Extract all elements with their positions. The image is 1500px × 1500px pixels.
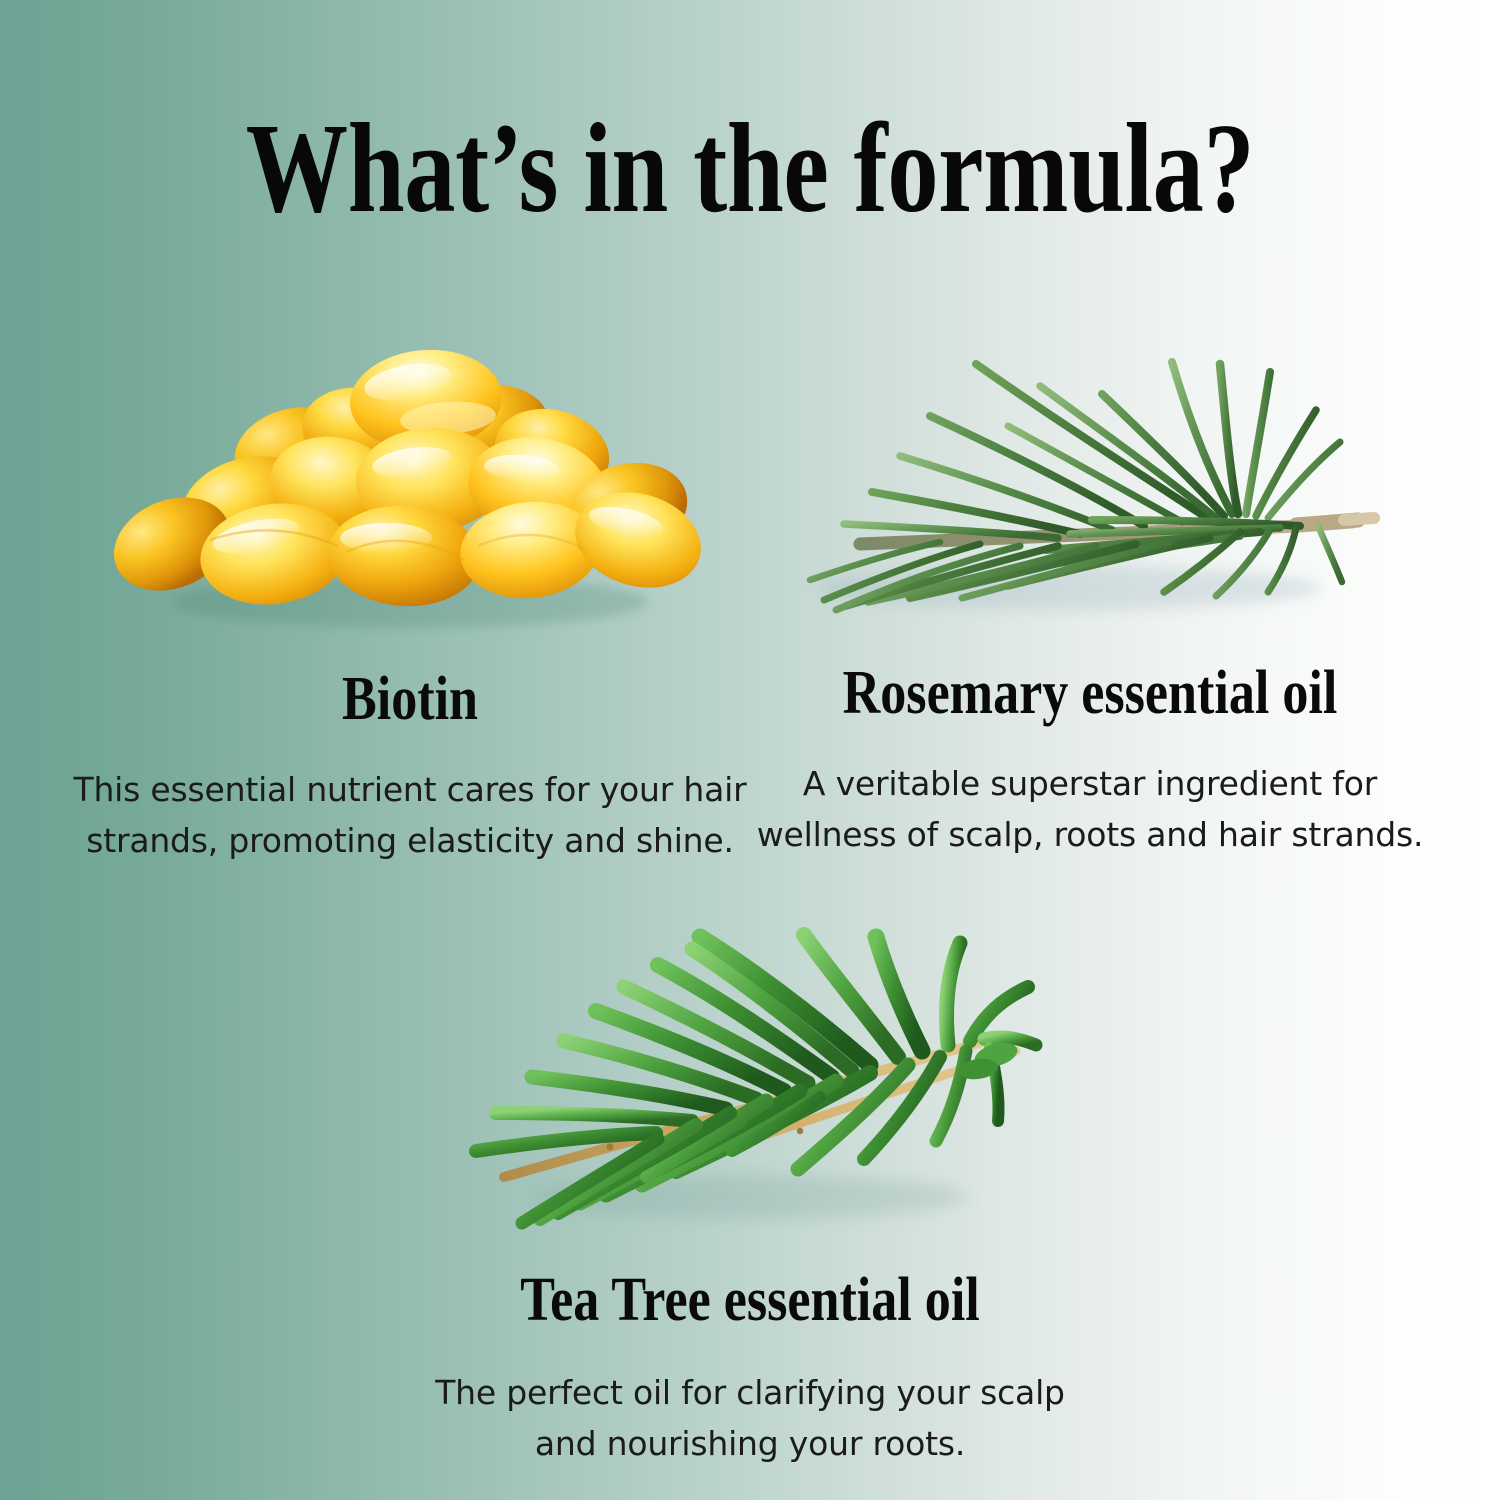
rosemary-image <box>740 330 1440 640</box>
ingredient-description-rosemary: A veritable superstar ingredient for wel… <box>740 758 1440 860</box>
ingredient-name-rosemary: Rosemary essential oil <box>796 662 1384 724</box>
biotin-image <box>60 340 760 640</box>
ingredient-name-teatree: Tea Tree essential oil <box>456 1269 1044 1331</box>
ingredient-description-teatree: The perfect oil for clarifying your scal… <box>400 1367 1100 1469</box>
ingredient-name-biotin: Biotin <box>116 668 704 730</box>
ingredient-card-teatree: Tea Tree essential oil The perfect oil f… <box>400 925 1100 1469</box>
rosemary-sprig-illustration <box>740 330 1440 640</box>
ingredient-description-biotin: This essential nutrient cares for your h… <box>60 764 760 866</box>
formula-ingredients-infographic: What’s in the formula? <box>0 0 1500 1500</box>
page-title: What’s in the formula? <box>150 104 1350 232</box>
biotin-capsules-illustration <box>60 340 760 640</box>
teatree-image <box>400 925 1100 1245</box>
tea-tree-sprig-illustration <box>400 925 1100 1245</box>
ingredient-card-rosemary: Rosemary essential oil A veritable super… <box>740 330 1440 860</box>
ingredient-card-biotin: Biotin This essential nutrient cares for… <box>60 340 760 866</box>
